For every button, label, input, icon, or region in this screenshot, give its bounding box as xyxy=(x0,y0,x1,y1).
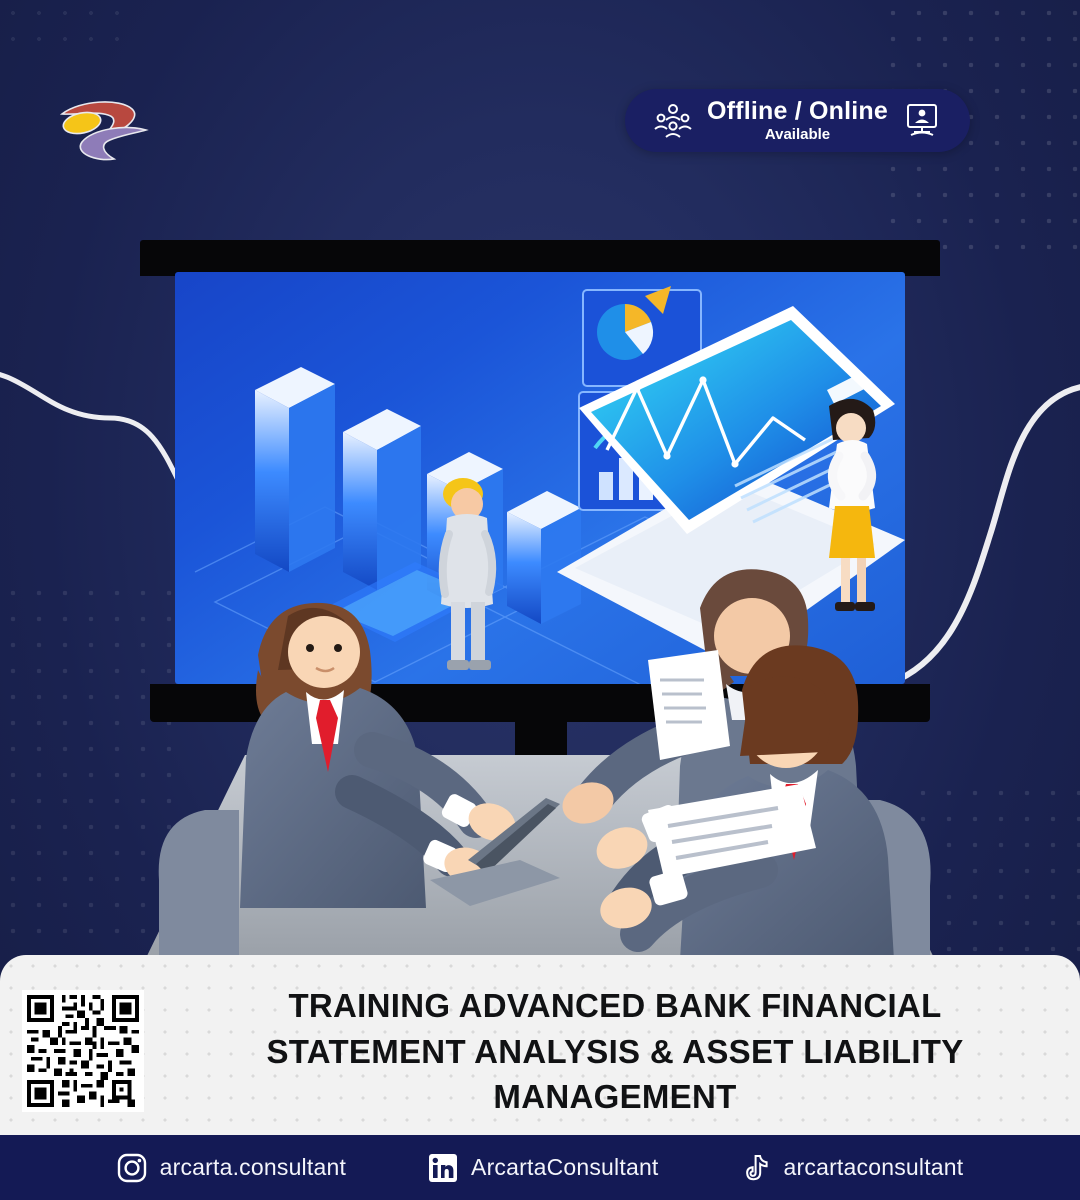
tiktok-icon xyxy=(741,1153,771,1183)
badge-text-block: Offline / Online Available xyxy=(707,98,888,143)
document-sheet xyxy=(648,650,730,760)
page-title: TRAINING ADVANCED BANK FINANCIAL STATEME… xyxy=(185,983,1045,1120)
social-handle: arcartaconsultant xyxy=(784,1154,964,1181)
badge-subtitle: Available xyxy=(707,127,888,143)
social-handle: arcarta.consultant xyxy=(160,1154,346,1181)
title-card: TRAINING ADVANCED BANK FINANCIAL STATEME… xyxy=(0,955,1080,1135)
foreground-meeting-scene xyxy=(0,560,1080,960)
qr-code-image xyxy=(27,995,139,1107)
display-top-bezel xyxy=(140,240,940,276)
poster-root: Offline / Online Available xyxy=(0,0,1080,1200)
video-conference-icon xyxy=(902,101,942,141)
arcarta-logo[interactable] xyxy=(48,78,158,168)
badge-title: Offline / Online xyxy=(707,98,888,124)
social-linkedin[interactable]: ArcartaConsultant xyxy=(428,1153,659,1183)
social-tiktok[interactable]: arcartaconsultant xyxy=(741,1153,964,1183)
meeting-people-illustration xyxy=(0,560,1080,960)
availability-badge[interactable]: Offline / Online Available xyxy=(625,89,970,152)
instagram-icon xyxy=(117,1153,147,1183)
chair-left xyxy=(159,810,239,960)
linkedin-icon xyxy=(428,1153,458,1183)
qr-code[interactable] xyxy=(22,990,144,1112)
group-meeting-icon xyxy=(653,101,693,141)
dot-pattern-top-left xyxy=(0,0,120,60)
social-footer: arcarta.consultant ArcartaConsultant arc… xyxy=(0,1135,1080,1200)
social-instagram[interactable]: arcarta.consultant xyxy=(117,1153,346,1183)
social-handle: ArcartaConsultant xyxy=(471,1154,659,1181)
